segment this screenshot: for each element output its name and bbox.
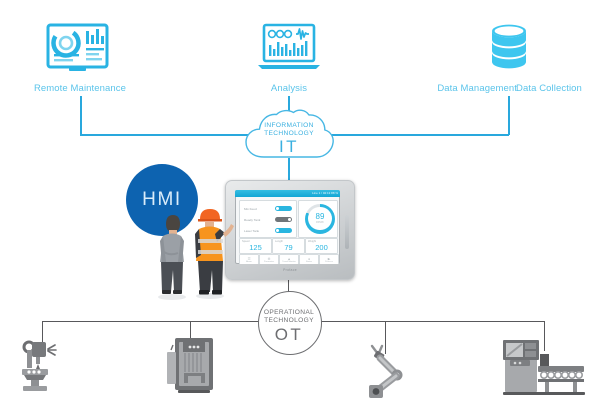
hmi-button-label-parameter: Parameter (260, 261, 278, 263)
machine-drill-press (18, 336, 80, 398)
laptop-analytics-icon (256, 23, 322, 75)
gauge-center: 89 RPM/h (308, 207, 331, 230)
hmi-panel-brand: Proface (226, 268, 354, 272)
toggle-label-0: Mix Feed (244, 207, 257, 211)
value-number-speed: 125 (240, 244, 271, 252)
panel-side-strip (345, 215, 349, 249)
hmi-button-trend-monitor[interactable]: ▲ Trend Monitor (279, 254, 299, 264)
hmi-button-label-process: Process (320, 261, 338, 263)
hmi-button-label-status: Status (300, 261, 318, 263)
it-cloud: INFORMATION TECHNOLOGY IT (243, 108, 335, 160)
node-label-data-management: Data Management (417, 83, 517, 94)
wrench-icon: ⚙ (260, 257, 278, 261)
hmi-screen[interactable]: Line 1 / 02:13 88 % Mix Feed Ready Tank … (235, 190, 340, 264)
user-icon: ● (300, 257, 318, 261)
value-number-length: 79 (273, 244, 304, 252)
database-icon (489, 23, 529, 75)
next-icon: ▶ (320, 257, 338, 261)
value-box-length: Length 79 (272, 238, 305, 254)
value-number-weight: 200 (306, 244, 337, 252)
rpm-gauge: 89 RPM/h (305, 204, 335, 234)
machine-cnc-conveyor (500, 336, 590, 398)
node-label-data-collection: Data Collection (516, 83, 600, 94)
ot-subtitle-line1: OPERATIONAL (258, 309, 320, 317)
ot-subtitle-line2: TECHNOLOGY (258, 317, 320, 325)
it-line-database-vertical (508, 96, 510, 135)
hmi-button-label-trend-monitor: Trend Monitor (280, 261, 298, 263)
node-label-remote-maintenance: Remote Maintenance (10, 83, 150, 94)
toggle-knob-2 (276, 229, 280, 233)
value-label-length: Length (275, 240, 283, 243)
hmi-button-parameter[interactable]: ⚙ Parameter (259, 254, 279, 264)
machine-press (165, 336, 227, 398)
it-line-horizontal-right (320, 134, 509, 136)
toggle-knob-0 (276, 207, 280, 211)
toggle-label-2: Laser Tank (244, 229, 259, 233)
toggle-switch-1[interactable] (275, 217, 292, 222)
it-line-horizontal-left (80, 134, 259, 136)
toggle-knob-1 (288, 218, 292, 222)
gauge-card: 89 RPM/h (298, 200, 338, 238)
hmi-button-label-alarm: Alarm (240, 261, 258, 263)
hmi-button-status[interactable]: ● Status (299, 254, 319, 264)
list-icon: ☰ (240, 257, 258, 261)
ot-line-horizontal-right (320, 321, 545, 322)
hmi-button-process[interactable]: ▶ Process (319, 254, 339, 264)
toggle-switch-2[interactable] (275, 228, 292, 233)
toggle-label-1: Ready Tank (244, 218, 260, 222)
hmi-status-bar: Line 1 / 02:13 88 % (235, 190, 340, 197)
hmi-button-alarm[interactable]: ☰ Alarm (239, 254, 259, 264)
hmi-panel[interactable]: Line 1 / 02:13 88 % Mix Feed Ready Tank … (225, 180, 355, 280)
node-label-analysis: Analysis (239, 83, 339, 94)
hmi-status-bar-text: Line 1 / 02:13 88 % (312, 191, 338, 195)
toggles-card: Mix Feed Ready Tank Laser Tank (239, 200, 297, 238)
gauge-unit: RPM/h (316, 221, 324, 224)
ot-line-horizontal-left (42, 321, 259, 322)
it-line-remote-vertical (80, 96, 82, 135)
value-box-speed: Speed 125 (239, 238, 272, 254)
hmi-bubble-label: HMI (142, 189, 182, 211)
gauge-value: 89 (316, 213, 325, 221)
monitor-dashboard-icon (45, 23, 115, 78)
ot-abbrev: OT (258, 325, 320, 345)
value-box-weight: Weight 200 (305, 238, 338, 254)
diagram-canvas: Remote Maintenance Analysis (0, 0, 600, 419)
it-line-cloud-to-panel (288, 158, 290, 180)
operator-worker (190, 206, 234, 300)
operator-manager (152, 212, 192, 300)
chart-icon: ▲ (280, 257, 298, 261)
machine-robot-arm (358, 342, 420, 400)
toggle-switch-0[interactable] (275, 206, 292, 211)
